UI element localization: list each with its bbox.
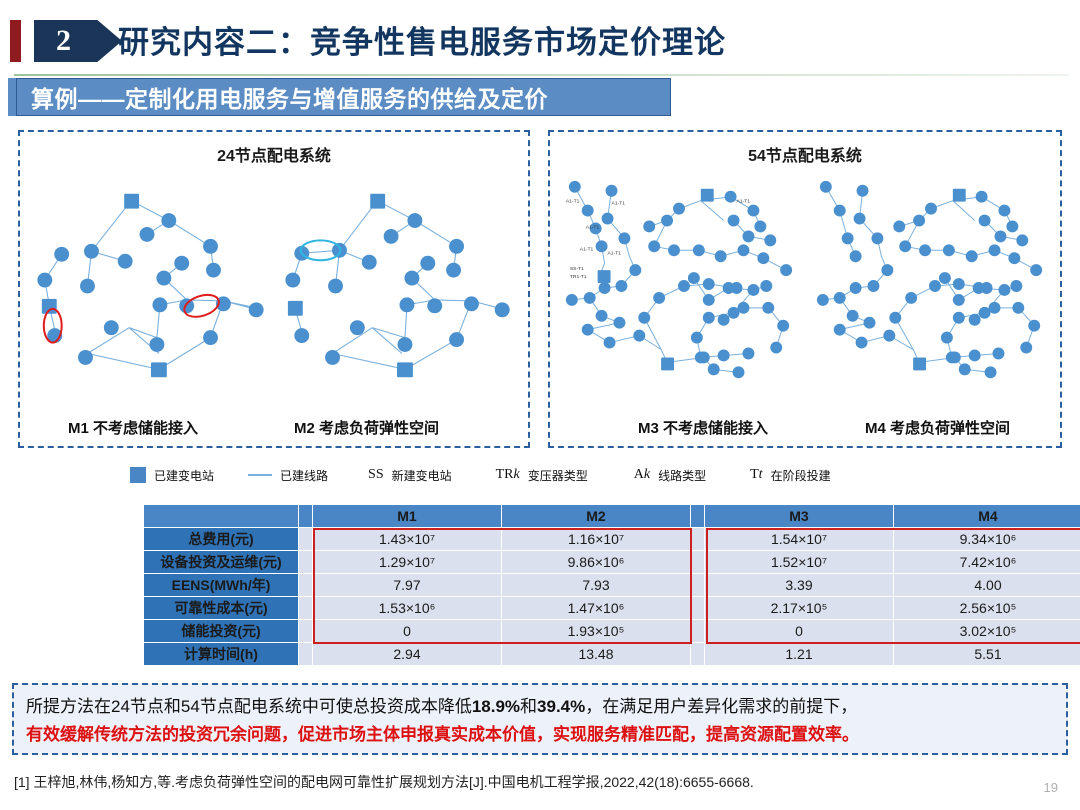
table-row-label: 储能投资(元) [144,620,299,643]
page-title: 研究内容二：竞争性售电服务市场定价理论 [118,17,726,62]
conclusion-line-2: 有效缓解传统方法的投资冗余问题，促进市场主体申报真实成本价值，实现服务精准匹配，… [26,721,1054,749]
subtitle-accent-band [8,78,16,116]
legend-item-transformer-type: TRk 变压器类型 [496,467,588,484]
table-cell-m1: 2.94 [313,643,502,666]
svg-text:A1-T1: A1-T1 [580,246,594,252]
legend-item-existing-substation: 已建变电站 [130,467,214,484]
table-cell-m2: 1.16×10⁷ [502,528,691,551]
svg-text:A1-T1: A1-T1 [737,199,751,205]
caption-m2: M2 考虑负荷弹性空间 [294,417,439,438]
svg-text:TR1-T1: TR1-T1 [570,274,587,280]
ss-symbol-icon: SS [368,467,384,483]
table-cell-pad2 [691,643,705,666]
table-cell-pad [299,528,313,551]
table-cell-m1: 0 [313,620,502,643]
table-header-row: M1M2M3M4 [144,505,1080,528]
table-cell-pad [299,643,313,666]
section-number-badge: 2 [34,20,122,62]
subtitle-banner: 算例——定制化用电服务与增值服务的供给及定价 [16,78,671,116]
table-cell-pad2 [691,574,705,597]
network-graph-54node: A1-T1A1-T1 A1-T1A1-T1 A1-T1SS-T1 TR1-T1A… [550,158,1060,416]
conclusion-value-1: 18.9% [472,697,520,716]
table-row-label: 计算时间(h) [144,643,299,666]
table-cell-m4: 9.34×10⁶ [894,528,1080,551]
svg-text:SS-T1: SS-T1 [570,266,584,272]
trk-symbol-icon: TRk [496,467,520,483]
table-cell-m3: 1.52×10⁷ [705,551,894,574]
table-row: 储能投资(元)01.93×10⁵03.02×10⁵ [144,620,1080,643]
table-header-m4: M4 [894,505,1080,528]
table-header-blank [144,505,299,528]
table-header-m1: M1 [313,505,502,528]
slide-header: 2 研究内容二：竞争性售电服务市场定价理论 [0,8,1080,68]
reference-citation: [1] 王梓旭,林伟,杨知方,等.考虑负荷弹性空间的配电网可靠性扩展规划方法[J… [14,772,754,792]
svg-text:A1-T1: A1-T1 [586,224,600,230]
results-table-wrapper: M1M2M3M4总费用(元)1.43×10⁷1.16×10⁷1.54×10⁷9.… [143,504,1068,666]
table-header-pad [299,505,313,528]
table-cell-m3: 0 [705,620,894,643]
table-cell-m2: 7.93 [502,574,691,597]
table-cell-m4: 7.42×10⁶ [894,551,1080,574]
legend-label-5: 在阶段投建 [771,467,831,484]
svg-text:A1-T1: A1-T1 [566,199,580,205]
table-cell-pad [299,597,313,620]
network-graph-24node [20,158,528,416]
svg-text:A1-T1: A1-T1 [612,201,626,207]
table-row: 设备投资及运维(元)1.29×10⁷9.86×10⁶1.52×10⁷7.42×1… [144,551,1080,574]
table-cell-m1: 1.43×10⁷ [313,528,502,551]
table-cell-pad [299,620,313,643]
table-cell-m3: 1.54×10⁷ [705,528,894,551]
table-cell-pad2 [691,620,705,643]
results-table: M1M2M3M4总费用(元)1.43×10⁷1.16×10⁷1.54×10⁷9.… [143,504,1080,666]
legend-label-3: 变压器类型 [528,467,588,484]
table-row-label: EENS(MWh/年) [144,574,299,597]
conclusion-line-1: 所提方法在24节点和54节点配电系统中可使总投资成本降低18.9%和39.4%，… [26,693,1054,721]
table-row: EENS(MWh/年)7.977.933.394.00 [144,574,1080,597]
table-header-m2: M2 [502,505,691,528]
table-cell-m4: 5.51 [894,643,1080,666]
table-row-label: 设备投资及运维(元) [144,551,299,574]
conclusion-value-2: 39.4% [537,697,585,716]
line-icon [248,474,272,476]
caption-m1: M1 不考虑储能接入 [68,417,198,438]
ak-symbol-icon: Ak [634,467,650,483]
table-cell-pad2 [691,528,705,551]
conclusion-text-pre: 所提方法在24节点和54节点配电系统中可使总投资成本降低 [26,697,472,716]
diagram-panel-24node: 24节点配电系统 [18,130,530,448]
table-cell-pad [299,551,313,574]
conclusion-box: 所提方法在24节点和54节点配电系统中可使总投资成本降低18.9%和39.4%，… [12,683,1068,755]
table-cell-m4: 4.00 [894,574,1080,597]
table-header-pad2 [691,505,705,528]
svg-text:A1-T1: A1-T1 [608,250,622,256]
legend-label-2: 新建变电站 [392,467,452,484]
table-cell-pad2 [691,551,705,574]
table-cell-m3: 3.39 [705,574,894,597]
table-cell-m3: 1.21 [705,643,894,666]
table-cell-m4: 2.56×10⁵ [894,597,1080,620]
table-row-label: 可靠性成本(元) [144,597,299,620]
square-substation-icon [130,467,146,483]
legend-item-existing-line: 已建线路 [248,467,328,484]
table-cell-m2: 1.47×10⁶ [502,597,691,620]
page-number: 19 [1044,780,1058,795]
table-cell-m3: 2.17×10⁵ [705,597,894,620]
tt-symbol-icon: Tt [750,467,762,483]
legend-label-1: 已建线路 [280,467,328,484]
conclusion-text-post: ，在满足用户差异化需求的前提下， [585,697,857,716]
table-cell-pad [299,574,313,597]
legend-item-line-type: Ak 线路类型 [634,467,706,484]
table-cell-m2: 13.48 [502,643,691,666]
legend-item-new-substation: SS 新建变电站 [368,467,452,484]
legend-label-0: 已建变电站 [154,467,214,484]
table-cell-m1: 7.97 [313,574,502,597]
table-cell-m2: 9.86×10⁶ [502,551,691,574]
table-row: 总费用(元)1.43×10⁷1.16×10⁷1.54×10⁷9.34×10⁶ [144,528,1080,551]
legend-item-stage-commission: Tt 在阶段投建 [750,467,830,484]
table-cell-m1: 1.29×10⁷ [313,551,502,574]
table-row: 可靠性成本(元)1.53×10⁶1.47×10⁶2.17×10⁵2.56×10⁵ [144,597,1080,620]
table-row-label: 总费用(元) [144,528,299,551]
diagram-legend: 已建变电站 已建线路 SS 新建变电站 TRk 变压器类型 Ak 线路类型 Tt… [130,462,930,488]
legend-label-4: 线路类型 [658,467,706,484]
conclusion-text-mid: 和 [520,697,537,716]
table-cell-pad2 [691,597,705,620]
diagram-panel-54node: 54节点配电系统 [548,130,1062,448]
table-header-m3: M3 [705,505,894,528]
caption-m4: M4 考虑负荷弹性空间 [865,417,1010,438]
header-accent-bar [10,20,21,62]
caption-m3: M3 不考虑储能接入 [638,417,768,438]
table-cell-m4: 3.02×10⁵ [894,620,1080,643]
table-row: 计算时间(h)2.9413.481.215.51 [144,643,1080,666]
table-cell-m2: 1.93×10⁵ [502,620,691,643]
table-cell-m1: 1.53×10⁶ [313,597,502,620]
header-divider [14,74,1069,76]
